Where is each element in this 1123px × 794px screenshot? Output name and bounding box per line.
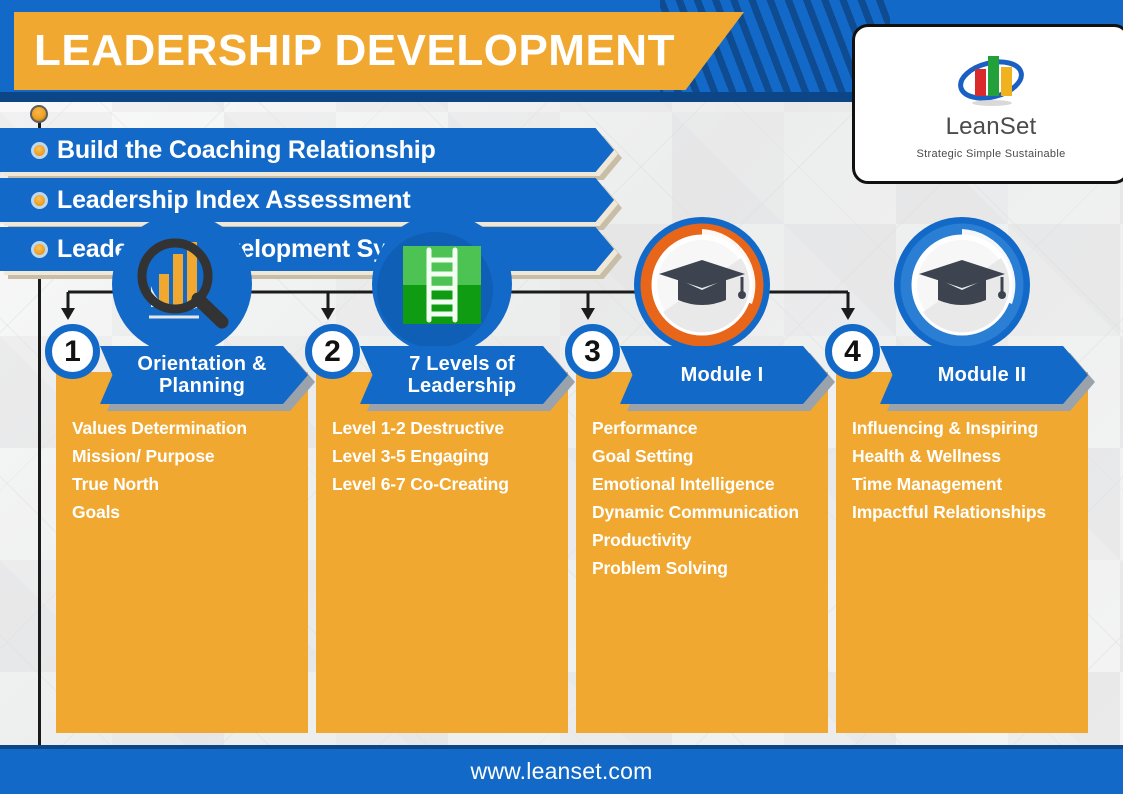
footer-bar: www.leanset.com <box>0 749 1123 794</box>
header-line-1: Module II <box>938 364 1026 386</box>
column-header-label: Module I <box>671 364 778 386</box>
banner-label: Leadership Index Assessment <box>0 186 411 215</box>
orange-bullet-icon <box>31 241 48 258</box>
title-underline <box>0 92 860 102</box>
list-item: Emotional Intelligence <box>592 470 820 498</box>
column-header-3: Module I <box>620 346 828 404</box>
list-item: Level 6-7 Co-Creating <box>332 470 560 498</box>
footer-url[interactable]: www.leanset.com <box>471 758 653 785</box>
orange-bullet-icon <box>31 142 48 159</box>
list-item: Values Determination <box>72 414 300 442</box>
spine-cap-bullet-icon <box>30 105 48 123</box>
list-item: Level 3-5 Engaging <box>332 442 560 470</box>
list-item: Productivity <box>592 526 820 554</box>
infographic-poster: LEADERSHIP DEVELOPMENT LeanSet Strategic… <box>0 0 1123 794</box>
bar-chart-swoosh-logo-icon <box>945 49 1037 111</box>
column-header-label: Module II <box>928 364 1040 386</box>
logo-tagline: Strategic Simple Sustainable <box>916 148 1065 160</box>
list-item: Mission/ Purpose <box>72 442 300 470</box>
list-item: Goal Setting <box>592 442 820 470</box>
column-number-badge-3: 3 <box>565 324 620 379</box>
column-header-1: Orientation & Planning <box>100 346 308 404</box>
banner-body: Leadership Index Assessment <box>0 178 614 222</box>
column-header-2: 7 Levels of Leadership <box>360 346 568 404</box>
list-item: Problem Solving <box>592 554 820 582</box>
column-item-list-3: Performance Goal Setting Emotional Intel… <box>592 414 820 582</box>
logo-card: LeanSet Strategic Simple Sustainable <box>852 24 1123 184</box>
chevron-body: Orientation & Planning <box>100 346 308 404</box>
column-header-4: Module II <box>880 346 1088 404</box>
list-item: Health & Wellness <box>852 442 1080 470</box>
header-line-1: Orientation & <box>137 353 266 375</box>
list-item: Dynamic Communication <box>592 498 820 526</box>
graduation-cap-blue-ring-icon <box>889 214 1035 360</box>
banner-label: Build the Coaching Relationship <box>0 136 436 165</box>
column-item-list-2: Level 1-2 Destructive Level 3-5 Engaging… <box>332 414 560 498</box>
list-item: Influencing & Inspiring <box>852 414 1080 442</box>
header-line-1: 7 Levels of <box>408 353 517 375</box>
column-number-badge-2: 2 <box>305 324 360 379</box>
column-number-badge-4: 4 <box>825 324 880 379</box>
column-header-label: 7 Levels of Leadership <box>398 353 531 397</box>
banner-body: Build the Coaching Relationship <box>0 128 614 172</box>
banner-body: Leadership Development System <box>0 227 614 271</box>
chevron-body: Module II <box>880 346 1088 404</box>
list-item: Performance <box>592 414 820 442</box>
list-item: Level 1-2 Destructive <box>332 414 560 442</box>
list-item: Time Management <box>852 470 1080 498</box>
magnifier-bar-chart-icon <box>109 214 255 360</box>
logo-name: LeanSet <box>946 113 1037 141</box>
graduation-cap-orange-ring-icon <box>629 214 775 360</box>
chevron-body: 7 Levels of Leadership <box>360 346 568 404</box>
list-item: True North <box>72 470 300 498</box>
orange-bullet-icon <box>31 192 48 209</box>
title-banner: LEADERSHIP DEVELOPMENT <box>14 12 744 90</box>
list-item: Impactful Relationships <box>852 498 1080 526</box>
header-line-2: Planning <box>137 375 266 397</box>
chevron-body: Module I <box>620 346 828 404</box>
green-ladder-icon <box>369 214 515 360</box>
column-header-label: Orientation & Planning <box>127 353 280 397</box>
header-line-2: Leadership <box>408 375 517 397</box>
list-item: Goals <box>72 498 300 526</box>
header-line-1: Module I <box>681 364 764 386</box>
page-title: LEADERSHIP DEVELOPMENT <box>14 26 675 76</box>
column-item-list-1: Values Determination Mission/ Purpose Tr… <box>72 414 300 526</box>
column-item-list-4: Influencing & Inspiring Health & Wellnes… <box>852 414 1080 526</box>
column-number-badge-1: 1 <box>45 324 100 379</box>
